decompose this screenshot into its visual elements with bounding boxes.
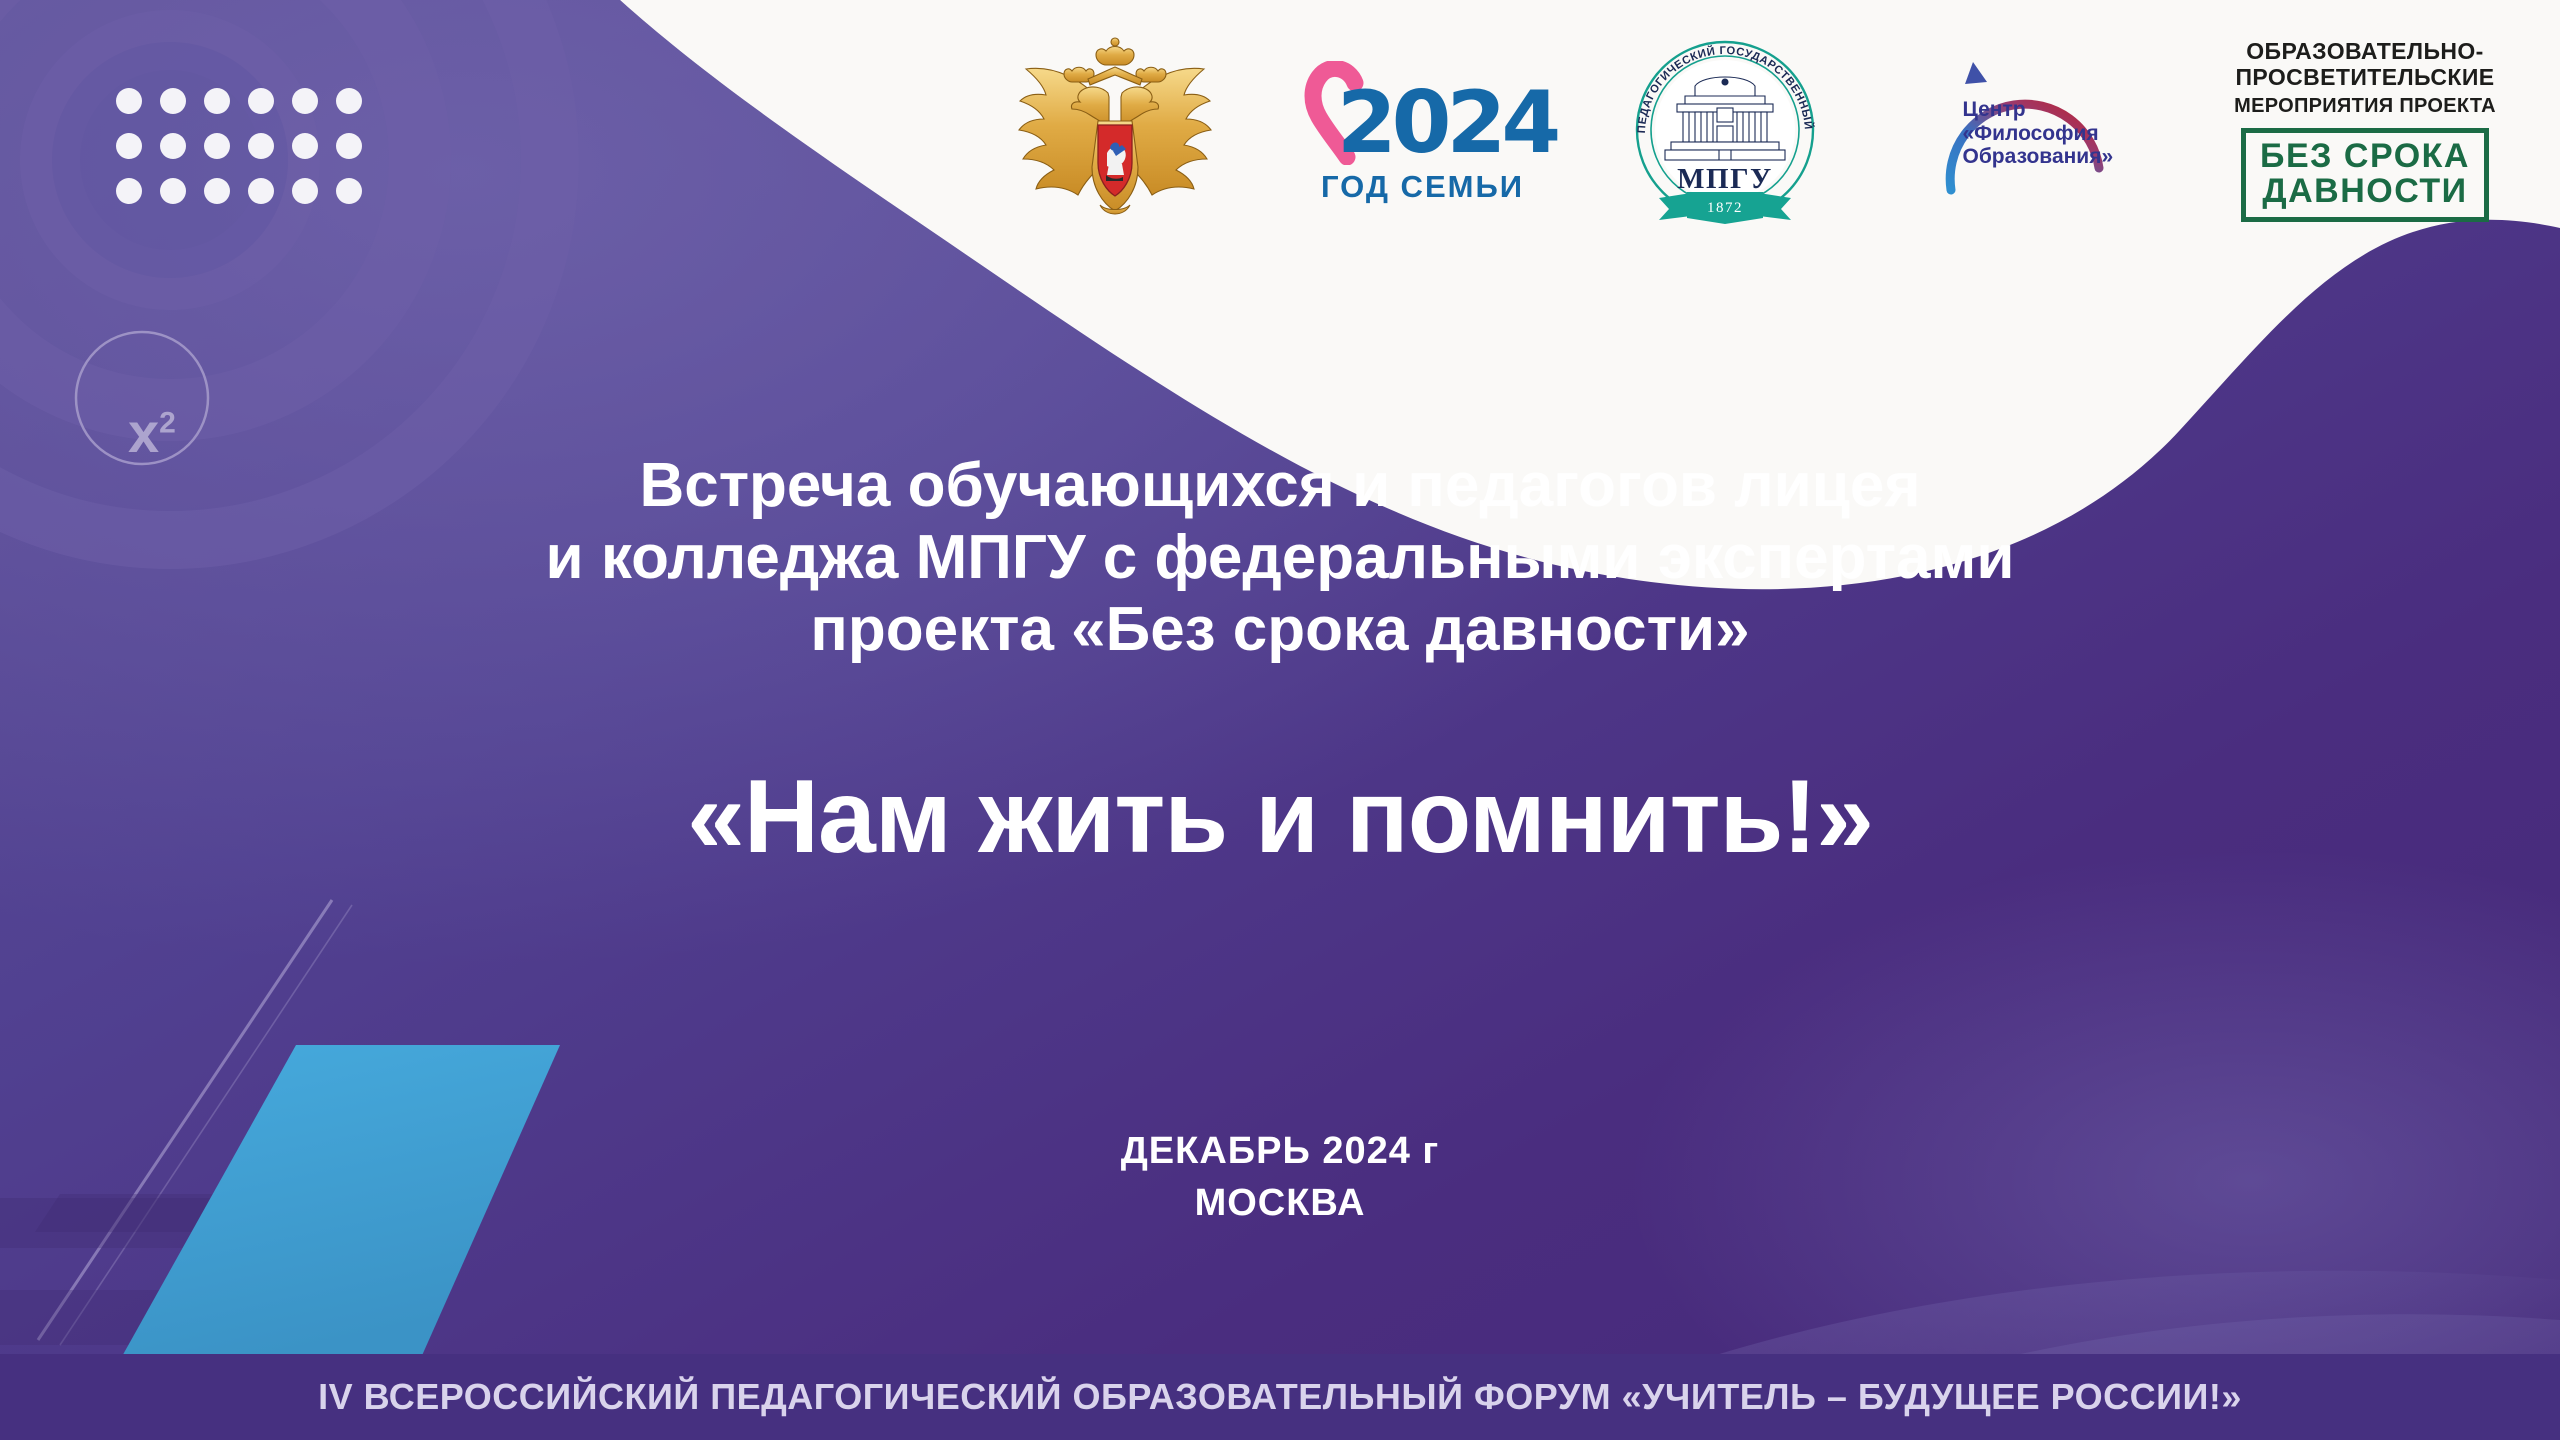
dot xyxy=(116,133,142,159)
dot xyxy=(116,178,142,204)
mpgu-logo: МОСКОВСКИЙ ПЕДАГОГИЧЕСКИЙ ГОСУДАРСТВЕННЫ… xyxy=(1625,30,1825,230)
bsd-stamp-line2: ДАВНОСТИ xyxy=(2260,174,2470,209)
dot xyxy=(292,88,318,114)
slide-meta-block: ДЕКАБРЬ 2024 г МОСКВА xyxy=(0,1125,2560,1230)
dot xyxy=(204,178,230,204)
meta-date: ДЕКАБРЬ 2024 г xyxy=(0,1125,2560,1177)
presentation-slide: x2 xyxy=(0,0,2560,1440)
russian-coat-of-arms-logo xyxy=(1010,35,1220,225)
dot xyxy=(204,133,230,159)
dot xyxy=(248,133,274,159)
dot xyxy=(336,133,362,159)
dot xyxy=(160,88,186,114)
dot xyxy=(292,178,318,204)
svg-text:МПГУ: МПГУ xyxy=(1677,163,1773,195)
philosophy-center-line3: Образования» xyxy=(1963,145,2153,169)
philosophy-center-line2: «Философия xyxy=(1963,122,2153,146)
dot xyxy=(248,88,274,114)
bsd-stamp-line1: БЕЗ СРОКА xyxy=(2260,139,2470,174)
bsd-stamp-box: БЕЗ СРОКА ДАВНОСТИ xyxy=(2241,128,2489,222)
slide-headline: «Нам жить и помнить!» xyxy=(0,760,2560,874)
bsd-heading: ОБРАЗОВАТЕЛЬНО- ПРОСВЕТИТЕЛЬСКИЕ xyxy=(2235,38,2494,90)
dot xyxy=(336,178,362,204)
family-logo-row: 2024 xyxy=(1289,55,1556,165)
logo-strip: 2024 ГОД СЕМЬИ МОСКОВСКИЙ ПЕДАГОГИЧЕСКИЙ… xyxy=(1010,30,2500,230)
bez-sroka-davnosti-logo: ОБРАЗОВАТЕЛЬНО- ПРОСВЕТИТЕЛЬСКИЕ МЕРОПРИ… xyxy=(2230,38,2500,221)
dot xyxy=(160,133,186,159)
double-headed-eagle-icon xyxy=(1010,35,1220,225)
dot xyxy=(292,133,318,159)
title-line-1: Встреча обучающихся и педагогов лицея xyxy=(0,450,2560,522)
dot-grid-decoration xyxy=(116,88,362,204)
mpgu-seal-icon: МОСКОВСКИЙ ПЕДАГОГИЧЕСКИЙ ГОСУДАРСТВЕННЫ… xyxy=(1625,30,1825,230)
year-of-family-logo: 2024 ГОД СЕМЬИ xyxy=(1298,55,1548,205)
footer-text: IV ВСЕРОССИЙСКИЙ ПЕДАГОГИЧЕСКИЙ ОБРАЗОВА… xyxy=(318,1376,2242,1418)
philosophy-center-line1: Центр xyxy=(1963,98,2153,122)
dot xyxy=(336,88,362,114)
dot xyxy=(248,178,274,204)
philosophy-center-logo: Центр «Философия Образования» xyxy=(1903,40,2153,220)
philosophy-center-text: Центр «Философия Образования» xyxy=(1963,98,2153,169)
meta-city: МОСКВА xyxy=(0,1177,2560,1229)
title-line-2: и колледжа МПГУ с федеральными экспертам… xyxy=(0,522,2560,594)
svg-text:1872: 1872 xyxy=(1707,200,1743,216)
footer-banner: IV ВСЕРОССИЙСКИЙ ПЕДАГОГИЧЕСКИЙ ОБРАЗОВА… xyxy=(0,1354,2560,1440)
family-logo-year: 2024 xyxy=(1337,83,1556,165)
slide-title-block: Встреча обучающихся и педагогов лицея и … xyxy=(0,450,2560,666)
x-squared-exponent: 2 xyxy=(159,406,176,439)
dot xyxy=(160,178,186,204)
family-logo-caption: ГОД СЕМЬИ xyxy=(1321,169,1524,205)
title-line-3: проекта «Без срока давности» xyxy=(0,594,2560,666)
dot xyxy=(204,88,230,114)
bsd-subheading: МЕРОПРИЯТИЯ ПРОЕКТА xyxy=(2234,95,2496,118)
dot xyxy=(116,88,142,114)
